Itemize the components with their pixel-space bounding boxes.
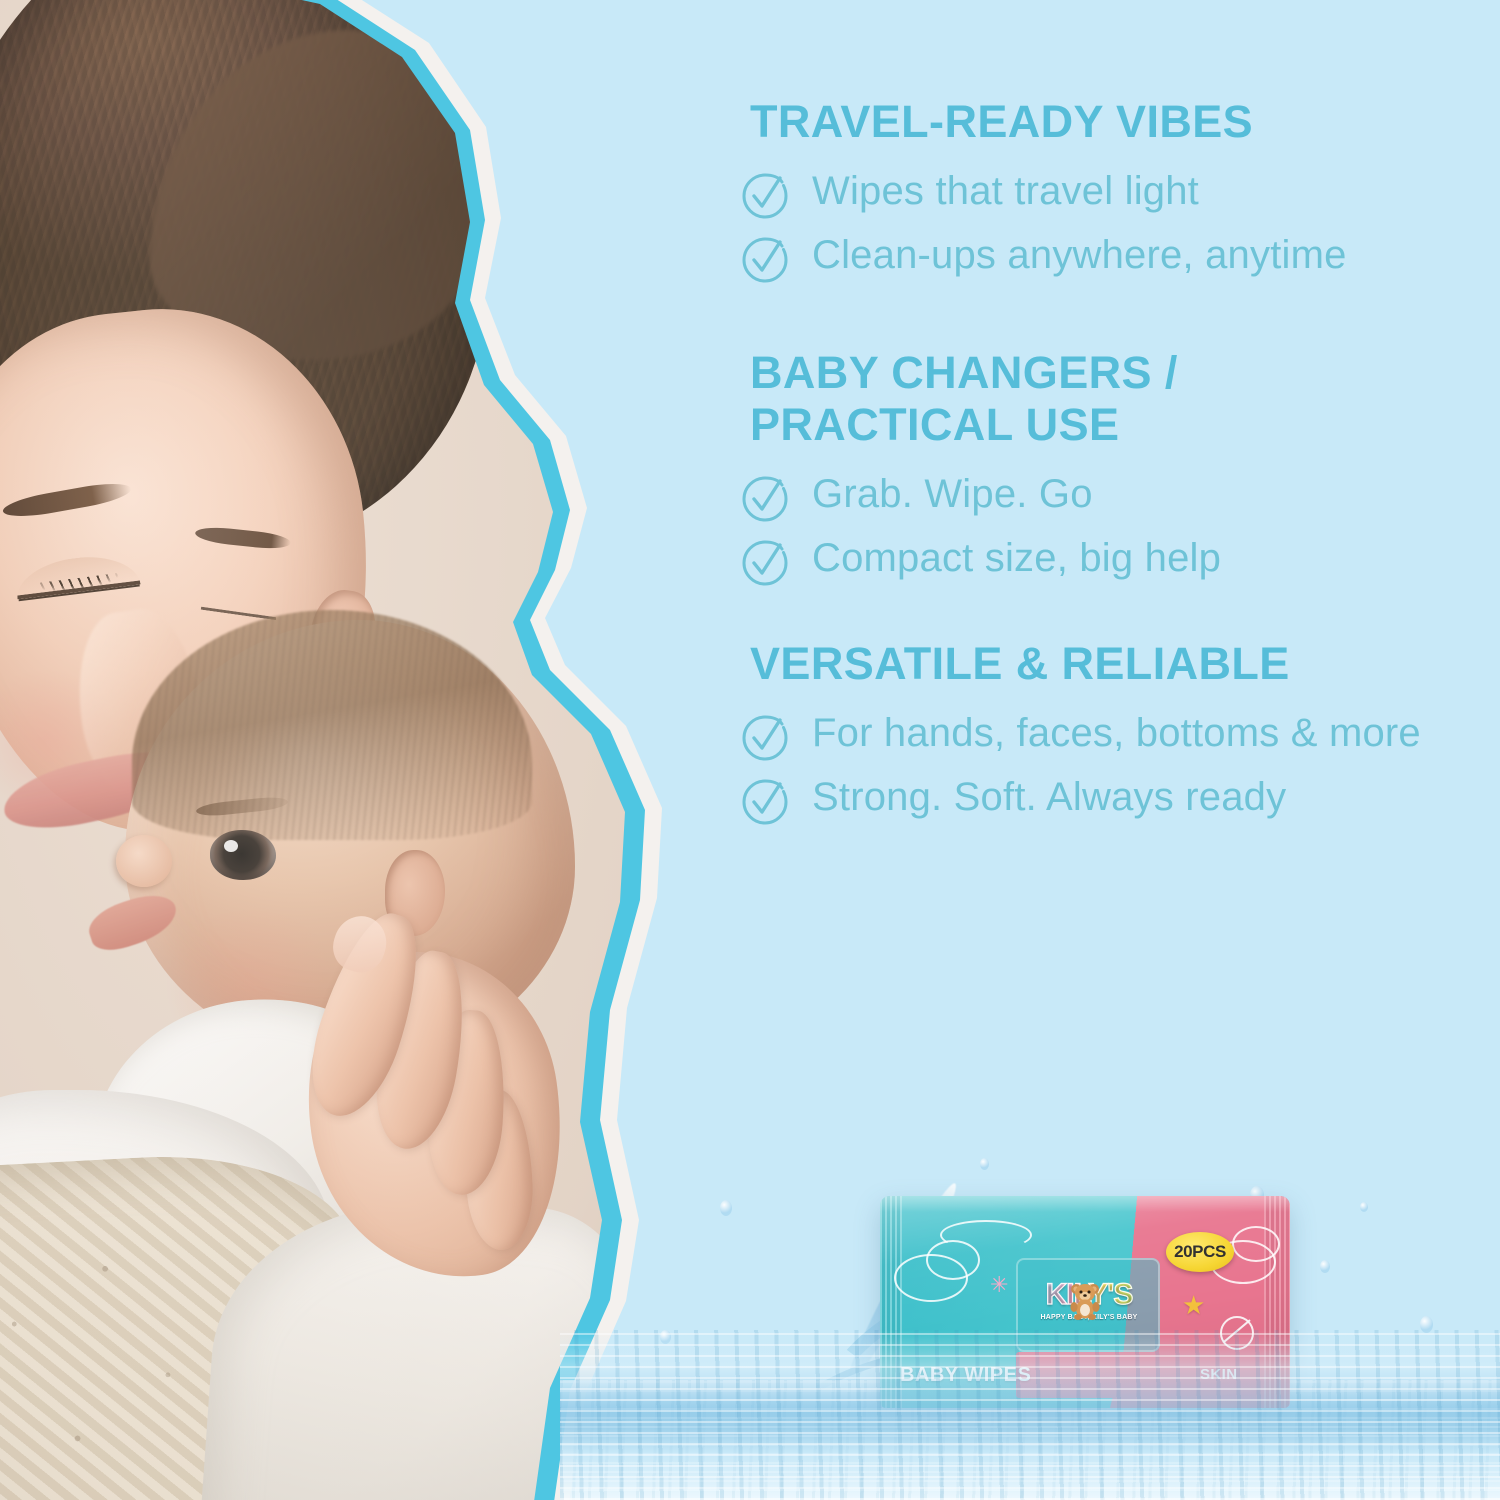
- bullet-label: Strong. Soft. Always ready: [812, 773, 1286, 823]
- water-droplet: [720, 1200, 732, 1216]
- water-droplet: [1420, 1316, 1433, 1333]
- feature-heading-changers: BABY CHANGERS / PRACTICAL USE: [750, 347, 1442, 450]
- teddy-bear-icon: [1068, 1280, 1102, 1320]
- bullet-item: Clean-ups anywhere, anytime: [742, 231, 1442, 283]
- bullet-item: Strong. Soft. Always ready: [742, 773, 1442, 825]
- water-droplet: [660, 1330, 671, 1344]
- bullet-label: For hands, faces, bottoms & more: [812, 709, 1421, 759]
- package-pink-band: [1016, 1352, 1188, 1398]
- bullet-label: Clean-ups anywhere, anytime: [812, 231, 1347, 281]
- sparkle-icon: ✳: [990, 1274, 1008, 1296]
- package-top-highlight: [880, 1196, 1290, 1212]
- baby-eye: [210, 830, 276, 880]
- bullet-item: For hands, faces, bottoms & more: [742, 709, 1442, 761]
- features-panel: TRAVEL-READY VIBES Wipes that travel lig…: [742, 96, 1442, 847]
- feature-group-changers: BABY CHANGERS / PRACTICAL USE Grab. Wipe…: [742, 347, 1442, 586]
- water-droplet: [1320, 1260, 1330, 1273]
- cloud-doodle-icon: [940, 1220, 1032, 1250]
- check-circle-icon: [742, 476, 788, 522]
- feature-group-versatile: VERSATILE & RELIABLE For hands, faces, b…: [742, 638, 1442, 825]
- water-droplet: [1360, 1202, 1368, 1212]
- bullet-label: Compact size, big help: [812, 534, 1221, 584]
- check-circle-icon: [742, 779, 788, 825]
- feature-group-travel: TRAVEL-READY VIBES Wipes that travel lig…: [742, 96, 1442, 283]
- star-icon: ★: [1182, 1292, 1205, 1318]
- feature-heading-versatile: VERSATILE & RELIABLE: [750, 638, 1442, 689]
- water-droplet: [980, 1158, 989, 1170]
- bullet-item: Compact size, big help: [742, 534, 1442, 586]
- baby-nose: [116, 835, 172, 887]
- package-skin-text: SKIN: [1200, 1366, 1237, 1383]
- pieces-count-badge: 20PCS: [1166, 1232, 1234, 1272]
- feature-heading-travel: TRAVEL-READY VIBES: [750, 96, 1442, 147]
- cloud-doodle-icon: [1232, 1226, 1280, 1262]
- bullet-item: Grab. Wipe. Go: [742, 470, 1442, 522]
- check-circle-icon: [742, 540, 788, 586]
- pieces-count-label: 20PCS: [1174, 1242, 1226, 1262]
- infographic-canvas: TRAVEL-READY VIBES Wipes that travel lig…: [0, 0, 1500, 1500]
- check-circle-icon: [742, 715, 788, 761]
- no-flush-icon: [1220, 1316, 1254, 1350]
- check-circle-icon: [742, 173, 788, 219]
- bullet-label: Wipes that travel light: [812, 167, 1199, 217]
- check-circle-icon: [742, 237, 788, 283]
- bullet-item: Wipes that travel light: [742, 167, 1442, 219]
- package-left-crimp: [880, 1196, 902, 1408]
- bullet-label: Grab. Wipe. Go: [812, 470, 1093, 520]
- product-package[interactable]: ✳ ★ KILY'S HAPPY BABY, KILY'S BABY: [880, 1196, 1290, 1408]
- package-product-type: BABY WIPES: [900, 1364, 1031, 1387]
